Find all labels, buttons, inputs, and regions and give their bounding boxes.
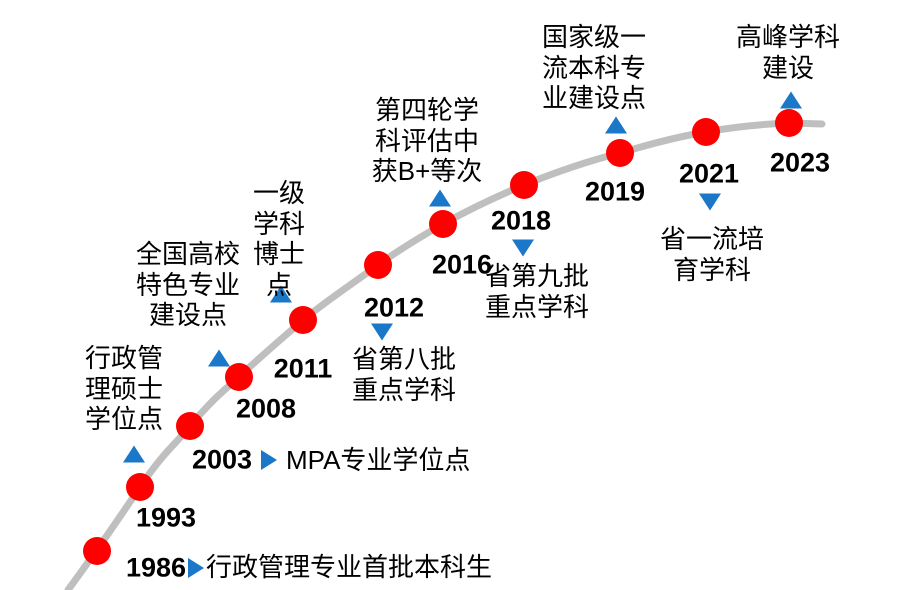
up-triangle-icon-2019 [605, 117, 627, 134]
milestone-dot-2008[interactable] [225, 363, 253, 391]
milestone-note-2012: 省第八批 重点学科 [352, 344, 456, 405]
milestone-dot-2018[interactable] [510, 171, 538, 199]
milestone-dot-2012[interactable] [364, 251, 392, 279]
milestone-note-2003: MPA专业学位点 [286, 445, 470, 476]
milestone-dot-2023[interactable] [775, 109, 803, 137]
milestone-note-2023: 高峰学科 建设 [736, 22, 840, 83]
milestone-dot-2011[interactable] [289, 306, 317, 334]
milestone-year-2011: 2011 [274, 354, 333, 385]
milestone-dot-1986[interactable] [83, 537, 111, 565]
milestone-dot-2021[interactable] [692, 118, 720, 146]
down-triangle-icon-2012 [371, 324, 393, 341]
milestone-year-2019: 2019 [585, 177, 645, 208]
milestone-dot-2016[interactable] [429, 210, 457, 238]
down-triangle-icon-2021 [699, 194, 721, 211]
up-triangle-icon-2023 [780, 92, 802, 109]
milestone-note-1993: 行政管 理硕士 学位点 [85, 343, 163, 435]
milestone-year-2023: 2023 [770, 148, 830, 179]
milestone-dot-1993[interactable] [126, 473, 154, 501]
milestone-year-1986: 1986 [126, 553, 186, 584]
up-triangle-icon-1993 [123, 446, 145, 463]
milestone-note-2021: 省一流培 育学科 [660, 224, 764, 285]
milestone-note-2016: 第四轮学 科评估中 获B+等次 [372, 95, 483, 187]
up-triangle-icon-2016 [429, 190, 451, 207]
right-triangle-icon-1986 [188, 558, 204, 578]
milestone-note-2018: 省第九批 重点学科 [485, 261, 589, 322]
milestone-year-1993: 1993 [136, 503, 196, 534]
milestone-year-2003: 2003 [192, 445, 252, 476]
milestone-dot-2003[interactable] [176, 412, 204, 440]
milestone-year-2021: 2021 [679, 159, 739, 190]
milestone-year-2008: 2008 [236, 394, 296, 425]
milestone-dot-2019[interactable] [606, 139, 634, 167]
timeline-diagram: 1986 行政管理专业首批本科生 1993 行政管 理硕士 学位点 2003 M… [0, 0, 909, 590]
milestone-note-2011: 一级 学科 博士 点 [253, 178, 305, 301]
up-triangle-icon-2008 [208, 350, 230, 367]
milestone-note-2008: 全国高校 特色专业 建设点 [136, 239, 240, 331]
right-triangle-icon-2003 [261, 450, 277, 470]
milestone-year-2012: 2012 [364, 293, 424, 324]
milestone-note-1986: 行政管理专业首批本科生 [206, 552, 492, 583]
milestone-year-2016: 2016 [432, 250, 492, 281]
down-triangle-icon-2018 [512, 240, 534, 257]
milestone-note-2019: 国家级一 流本科专 业建设点 [542, 22, 646, 114]
milestone-year-2018: 2018 [491, 206, 551, 237]
